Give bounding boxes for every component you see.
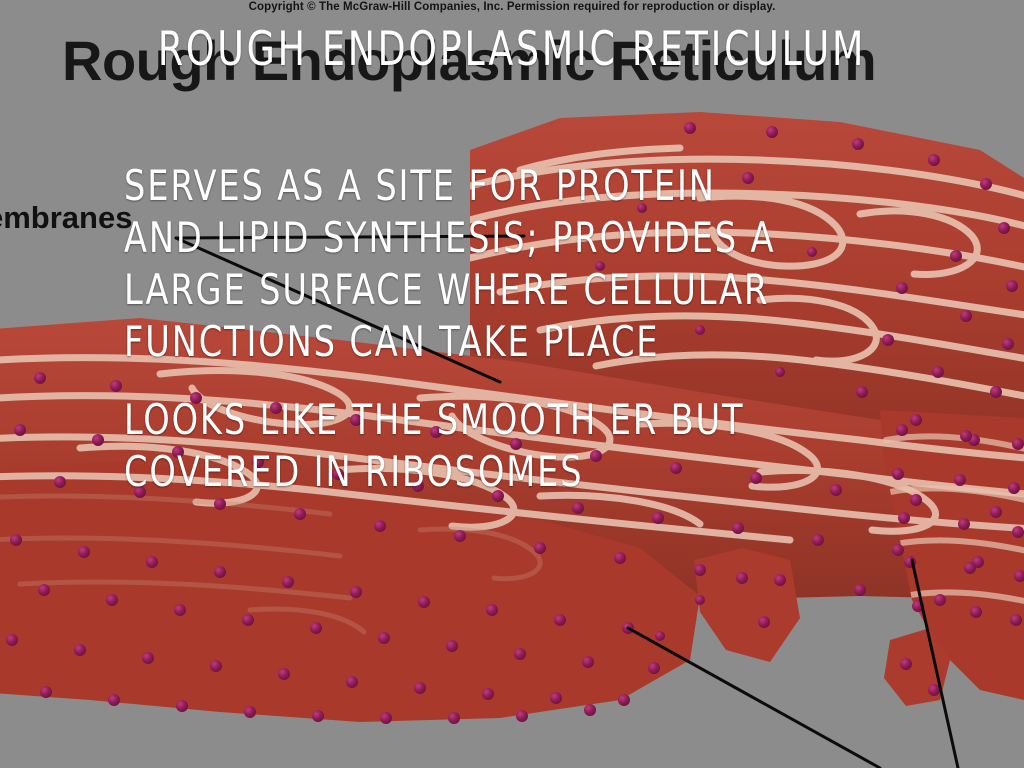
body-text: SERVES AS A SITE FOR PROTEIN AND LIPID S… bbox=[124, 160, 924, 498]
page-title: ROUGH ENDOPLASMIC RETICULUM bbox=[72, 22, 953, 77]
body-line: AND LIPID SYNTHESIS; PROVIDES A bbox=[124, 212, 836, 264]
body-line: LARGE SURFACE WHERE CELLULAR bbox=[124, 264, 836, 316]
leader-line-ribosome-left bbox=[628, 628, 880, 768]
body-line: SERVES AS A SITE FOR PROTEIN bbox=[124, 160, 836, 212]
body-line: FUNCTIONS CAN TAKE PLACE bbox=[124, 316, 836, 368]
body-line: COVERED IN RIBOSOMES bbox=[124, 446, 836, 498]
slide-canvas: Copyright © The McGraw-Hill Companies, I… bbox=[0, 0, 1024, 768]
leader-line-ribosome-right bbox=[912, 560, 958, 768]
paragraph-appearance: LOOKS LIKE THE SMOOTH ER BUT COVERED IN … bbox=[124, 394, 924, 498]
paragraph-function: SERVES AS A SITE FOR PROTEIN AND LIPID S… bbox=[124, 160, 924, 368]
body-line: LOOKS LIKE THE SMOOTH ER BUT bbox=[124, 394, 836, 446]
